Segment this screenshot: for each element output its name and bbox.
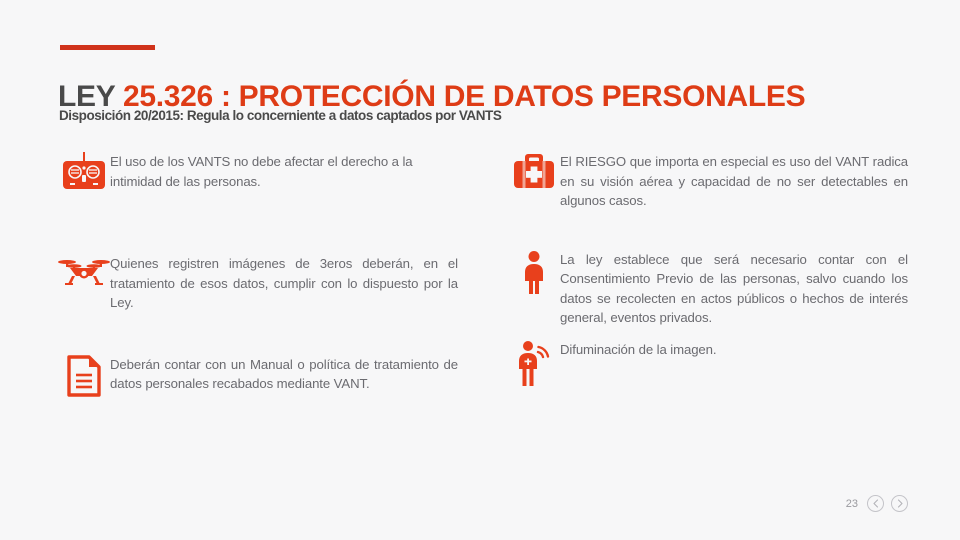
rc-transmitter-icon <box>58 150 110 192</box>
chevron-left-icon <box>872 499 880 508</box>
list-item-text: Deberán contar con un Manual o política … <box>110 353 458 394</box>
page-number: 23 <box>846 498 858 510</box>
list-item-text: Difuminación de la imagen. <box>560 338 908 360</box>
next-slide-button[interactable] <box>891 495 908 512</box>
list-item: El uso de los VANTS no debe afectar el d… <box>58 150 458 192</box>
list-item-text: Quienes registren imágenes de 3eros debe… <box>110 252 458 313</box>
prev-slide-button[interactable] <box>867 495 884 512</box>
drone-icon <box>58 252 110 288</box>
title-accent-bar <box>60 45 155 50</box>
first-aid-kit-icon <box>508 150 560 190</box>
person-with-remote-icon <box>508 338 560 388</box>
right-column: El RIESGO que importa en especial es uso… <box>508 150 908 388</box>
slide-footer: 23 <box>846 495 908 512</box>
list-item-text: La ley establece que será necesario cont… <box>560 248 908 328</box>
list-item: Difuminación de la imagen. <box>508 338 908 388</box>
list-item: El RIESGO que importa en especial es uso… <box>508 150 908 211</box>
list-item-text: El RIESGO que importa en especial es uso… <box>560 150 908 211</box>
slide: LEY 25.326 : PROTECCIÓN DE DATOS PERSONA… <box>0 0 960 540</box>
person-icon <box>508 248 560 294</box>
document-icon <box>58 353 110 397</box>
list-item: Quienes registren imágenes de 3eros debe… <box>58 252 458 313</box>
chevron-right-icon <box>896 499 904 508</box>
page-subtitle: Disposición 20/2015: Regula lo concernie… <box>59 108 501 123</box>
list-item: La ley establece que será necesario cont… <box>508 248 908 328</box>
left-column: El uso de los VANTS no debe afectar el d… <box>58 150 458 397</box>
list-item-text: El uso de los VANTS no debe afectar el d… <box>110 150 458 191</box>
list-item: Deberán contar con un Manual o política … <box>58 353 458 397</box>
